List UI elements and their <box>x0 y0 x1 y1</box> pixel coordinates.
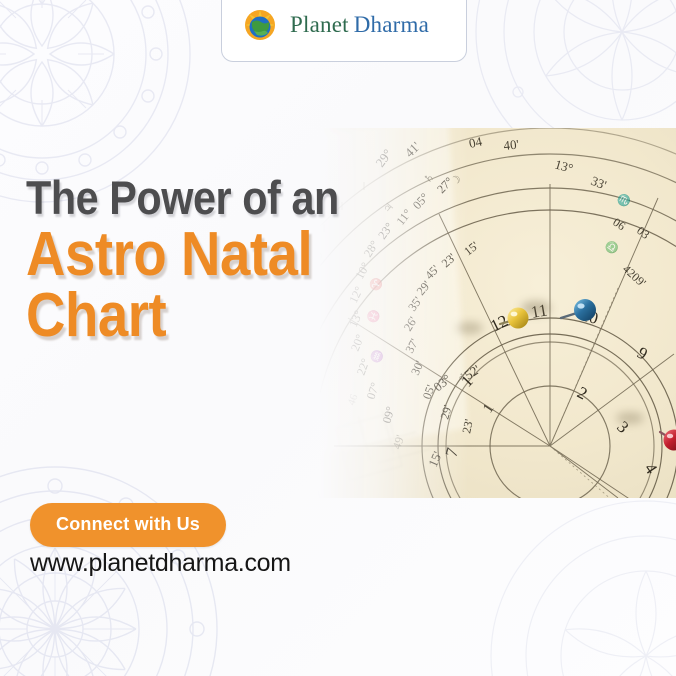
headline-line-2: Astro Natal <box>26 226 330 285</box>
svg-text:23': 23' <box>459 418 476 435</box>
brand-logo-plate[interactable]: PlanetDharma <box>221 0 467 62</box>
headline-line-1: The Power of an <box>26 176 330 221</box>
brand-name-part2: Dharma <box>354 12 429 37</box>
website-url[interactable]: www.planetdharma.com <box>30 549 291 578</box>
poster-canvas: 29° 41' 04 40' 13° 33' 27° 05° 11° 23° 2… <box>0 0 676 676</box>
connect-with-us-button[interactable]: Connect with Us <box>30 503 226 547</box>
svg-text:40': 40' <box>503 136 520 153</box>
mandala-ornament-bottom-right <box>486 496 676 676</box>
brand-name: PlanetDharma <box>290 12 429 38</box>
natal-chart-photo: 29° 41' 04 40' 13° 33' 27° 05° 11° 23° 2… <box>318 128 676 498</box>
headline-line-3: Chart <box>26 287 330 346</box>
sun-globe-icon <box>240 5 280 45</box>
page-title: The Power of an Astro Natal Chart <box>26 176 371 345</box>
brand-name-part1: Planet <box>290 12 349 37</box>
